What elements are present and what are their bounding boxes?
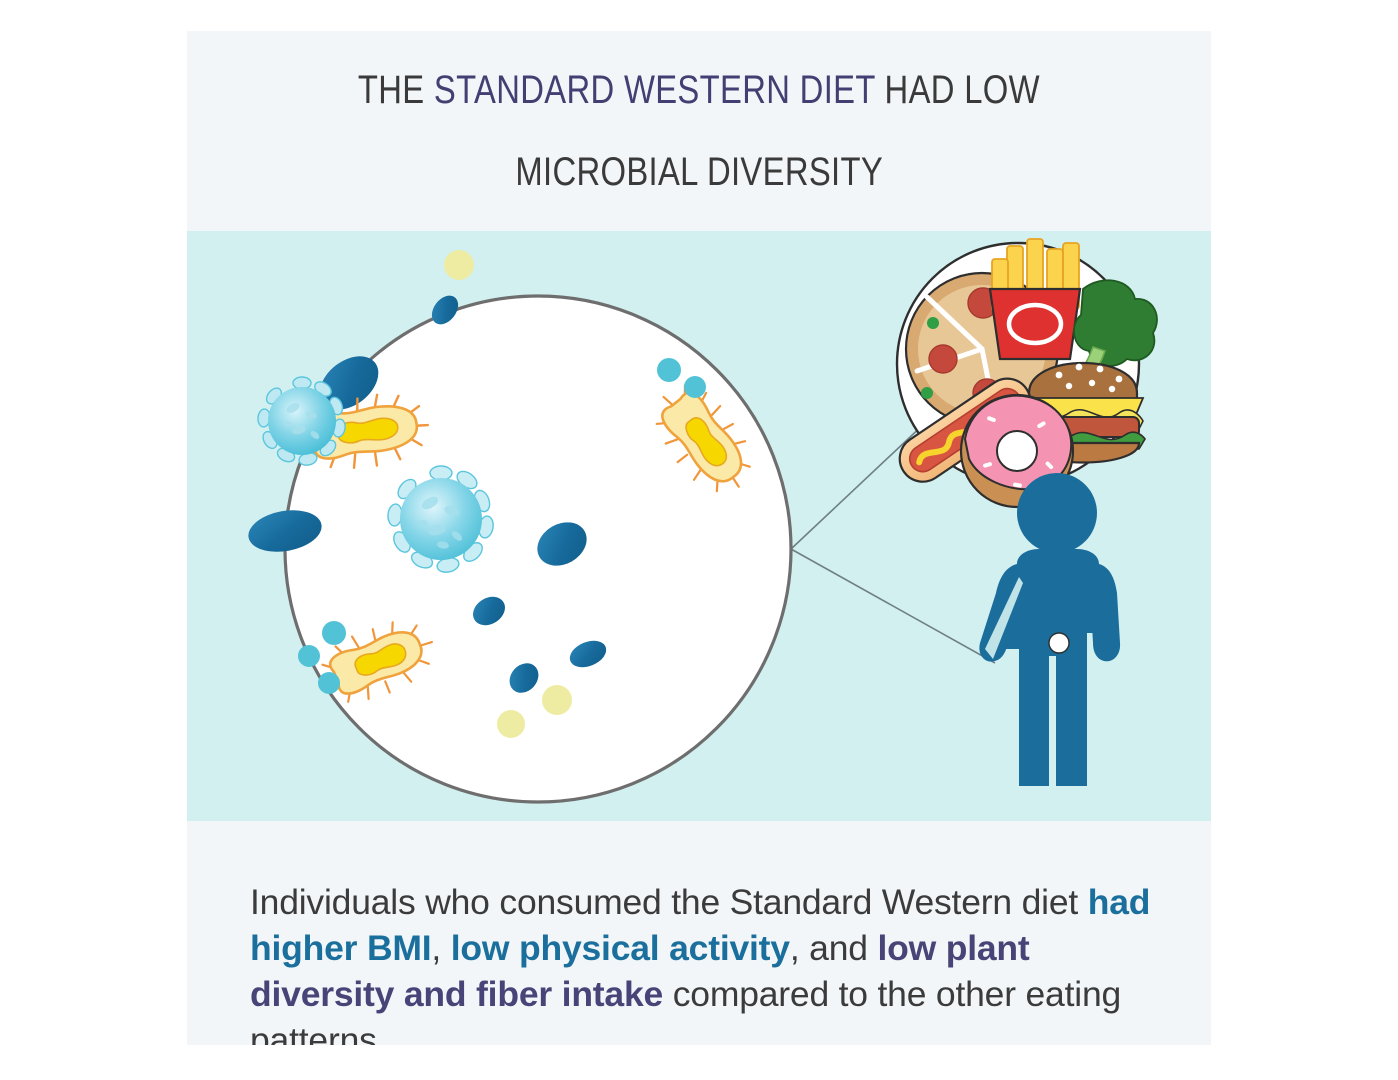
cyan-dot-icon <box>318 672 340 694</box>
page-title-line-1: THE STANDARD WESTERN DIET HAD LOW <box>358 68 1040 112</box>
person-figure <box>979 473 1120 786</box>
caption-text: Individuals who consumed the Standard We… <box>250 879 1160 1046</box>
title-suffix: HAD LOW <box>875 68 1040 112</box>
title-highlight: STANDARD WESTERN DIET <box>434 68 875 112</box>
yellow-dot-icon <box>497 710 525 738</box>
cyan-dot-icon <box>684 376 706 398</box>
caption-highlight-activity: low physical activity <box>451 928 790 968</box>
yellow-dot-icon <box>542 685 572 715</box>
person-right-arm-icon <box>1090 564 1120 661</box>
illustration-band <box>187 231 1211 821</box>
person-head-icon <box>1017 473 1097 553</box>
infographic-panel: THE STANDARD WESTERN DIET HAD LOW MICROB… <box>187 31 1211 1045</box>
yellow-dot-icon <box>444 250 474 280</box>
cyan-dot-icon <box>657 358 681 382</box>
gut-marker-icon <box>1049 633 1069 653</box>
caption-band: Individuals who consumed the Standard We… <box>187 821 1211 1045</box>
cyan-dot-icon <box>322 621 346 645</box>
caption-seg-1: Individuals who consumed the Standard We… <box>250 882 1088 922</box>
caption-seg-3: , <box>431 928 450 968</box>
petri-dish <box>245 250 791 802</box>
connector-line-to-person <box>791 549 995 663</box>
caption-seg-5: , and <box>790 928 878 968</box>
illustration-svg <box>187 231 1211 821</box>
header-band: THE STANDARD WESTERN DIET HAD LOW MICROB… <box>187 31 1211 231</box>
fast-food-plate <box>891 239 1157 507</box>
title-prefix: THE <box>358 68 434 112</box>
cyan-dot-icon <box>298 645 320 667</box>
page-title-line-2: MICROBIAL DIVERSITY <box>515 150 883 194</box>
